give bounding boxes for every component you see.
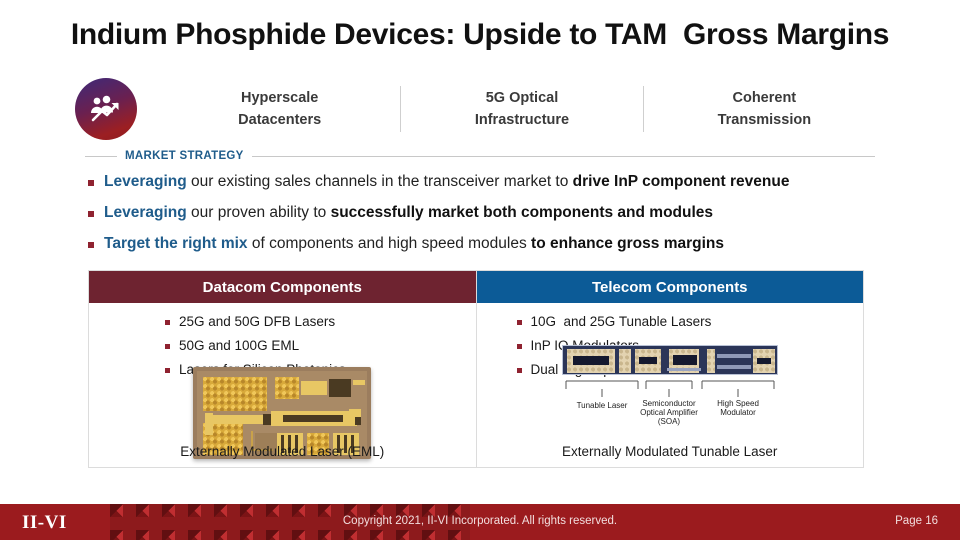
table-header-datacom: Datacom Components [89,271,476,303]
list-item: 25G and 50G DFB Lasers [165,313,476,332]
tunable-laser-annotations: Tunable Laser Semiconductor Optical Ampl… [562,379,778,431]
bullet-square-icon [165,320,170,325]
table-column-datacom: Datacom Components 25G and 50G DFB Laser… [89,271,476,467]
header-column-5g-optical: 5G Optical Infrastructure [401,87,642,132]
bullet-mid: of components and high speed modules [248,235,532,252]
people-growth-arrow-icon [75,78,137,140]
bullet-mid: our proven ability to [187,204,331,221]
telecom-image-caption: Externally Modulated Tunable Laser [477,444,864,459]
datacom-image-caption: Externally Modulated Laser (EML) [89,444,476,459]
svg-text:(SOA): (SOA) [658,417,681,426]
strategy-bullet-list: Leveraging our existing sales channels i… [88,172,888,265]
list-item-label: 25G and 50G DFB Lasers [179,313,335,332]
copyright-text: Copyright 2021, II-VI Incorporated. All … [0,515,960,527]
header-column-hyperscale-line1: Hyperscale [159,87,400,109]
header-column-coherent-line2: Transmission [644,109,885,131]
list-item: 10G and 25G Tunable Lasers [517,313,864,332]
table-column-telecom: Telecom Components 10G and 25G Tunable L… [476,271,864,467]
bullet-square-icon [517,320,522,325]
table-body-telecom: 10G and 25G Tunable Lasers InP IQ Modula… [477,303,864,467]
table-header-telecom: Telecom Components [477,271,864,303]
section-rule-right [252,156,875,157]
bullet-square-icon [517,368,522,373]
header-column-5g-optical-line1: 5G Optical [401,87,642,109]
header-column-coherent-line1: Coherent [644,87,885,109]
bullet-square-icon [88,211,94,217]
bullet-square-icon [165,344,170,349]
list-item: Leveraging our proven ability to success… [88,203,888,224]
header-column-hyperscale-line2: Datacenters [159,109,400,131]
header-column-hyperscale: Hyperscale Datacenters [159,87,400,132]
bullet-strong: successfully market both components and … [331,204,713,221]
bullet-square-icon [165,368,170,373]
bullet-strong: drive InP component revenue [573,173,790,190]
bullet-square-icon [88,180,94,186]
tunable-laser-chip-photo [562,345,778,375]
components-table: Datacom Components 25G and 50G DFB Laser… [88,270,864,468]
bullet-text: Target the right mix of components and h… [104,234,724,255]
svg-text:Optical Amplifier: Optical Amplifier [640,408,698,417]
bullet-square-icon [517,344,522,349]
slide-root: Indium Phosphide Devices: Upside to TAM … [0,0,960,540]
section-rule-left [85,156,117,157]
bullet-square-icon [88,242,94,248]
section-divider-market-strategy: MARKET STRATEGY [85,150,875,162]
list-item-label: 50G and 100G EML [179,337,299,356]
header-column-5g-optical-line2: Infrastructure [401,109,642,131]
svg-text:Modulator: Modulator [720,408,756,417]
svg-text:Semiconductor: Semiconductor [642,399,696,408]
table-body-datacom: 25G and 50G DFB Lasers 50G and 100G EML … [89,303,476,467]
svg-text:Tunable Laser: Tunable Laser [576,401,627,410]
bullet-mid: our existing sales channels in the trans… [187,173,573,190]
svg-text:High Speed: High Speed [717,399,759,408]
list-item: Target the right mix of components and h… [88,234,888,255]
page-title: Indium Phosphide Devices: Upside to TAM … [0,18,960,52]
bullet-lead: Leveraging [104,173,187,190]
bullet-lead: Target the right mix [104,235,248,252]
bullet-text: Leveraging our existing sales channels i… [104,172,789,193]
section-label: MARKET STRATEGY [125,150,244,162]
header-columns: Hyperscale Datacenters 5G Optical Infras… [159,80,885,138]
list-item: Leveraging our existing sales channels i… [88,172,888,193]
page-number: Page 16 [895,515,938,527]
list-item: 50G and 100G EML [165,337,476,356]
header-strip: Hyperscale Datacenters 5G Optical Infras… [75,78,885,140]
header-column-coherent: Coherent Transmission [644,87,885,132]
bullet-lead: Leveraging [104,204,187,221]
footer-bar: II-VI Copyright 2021, II-VI Incorporated… [0,504,960,540]
bullet-strong: to enhance gross margins [531,235,724,252]
list-item-label: 10G and 25G Tunable Lasers [531,313,712,332]
bullet-text: Leveraging our proven ability to success… [104,203,713,224]
